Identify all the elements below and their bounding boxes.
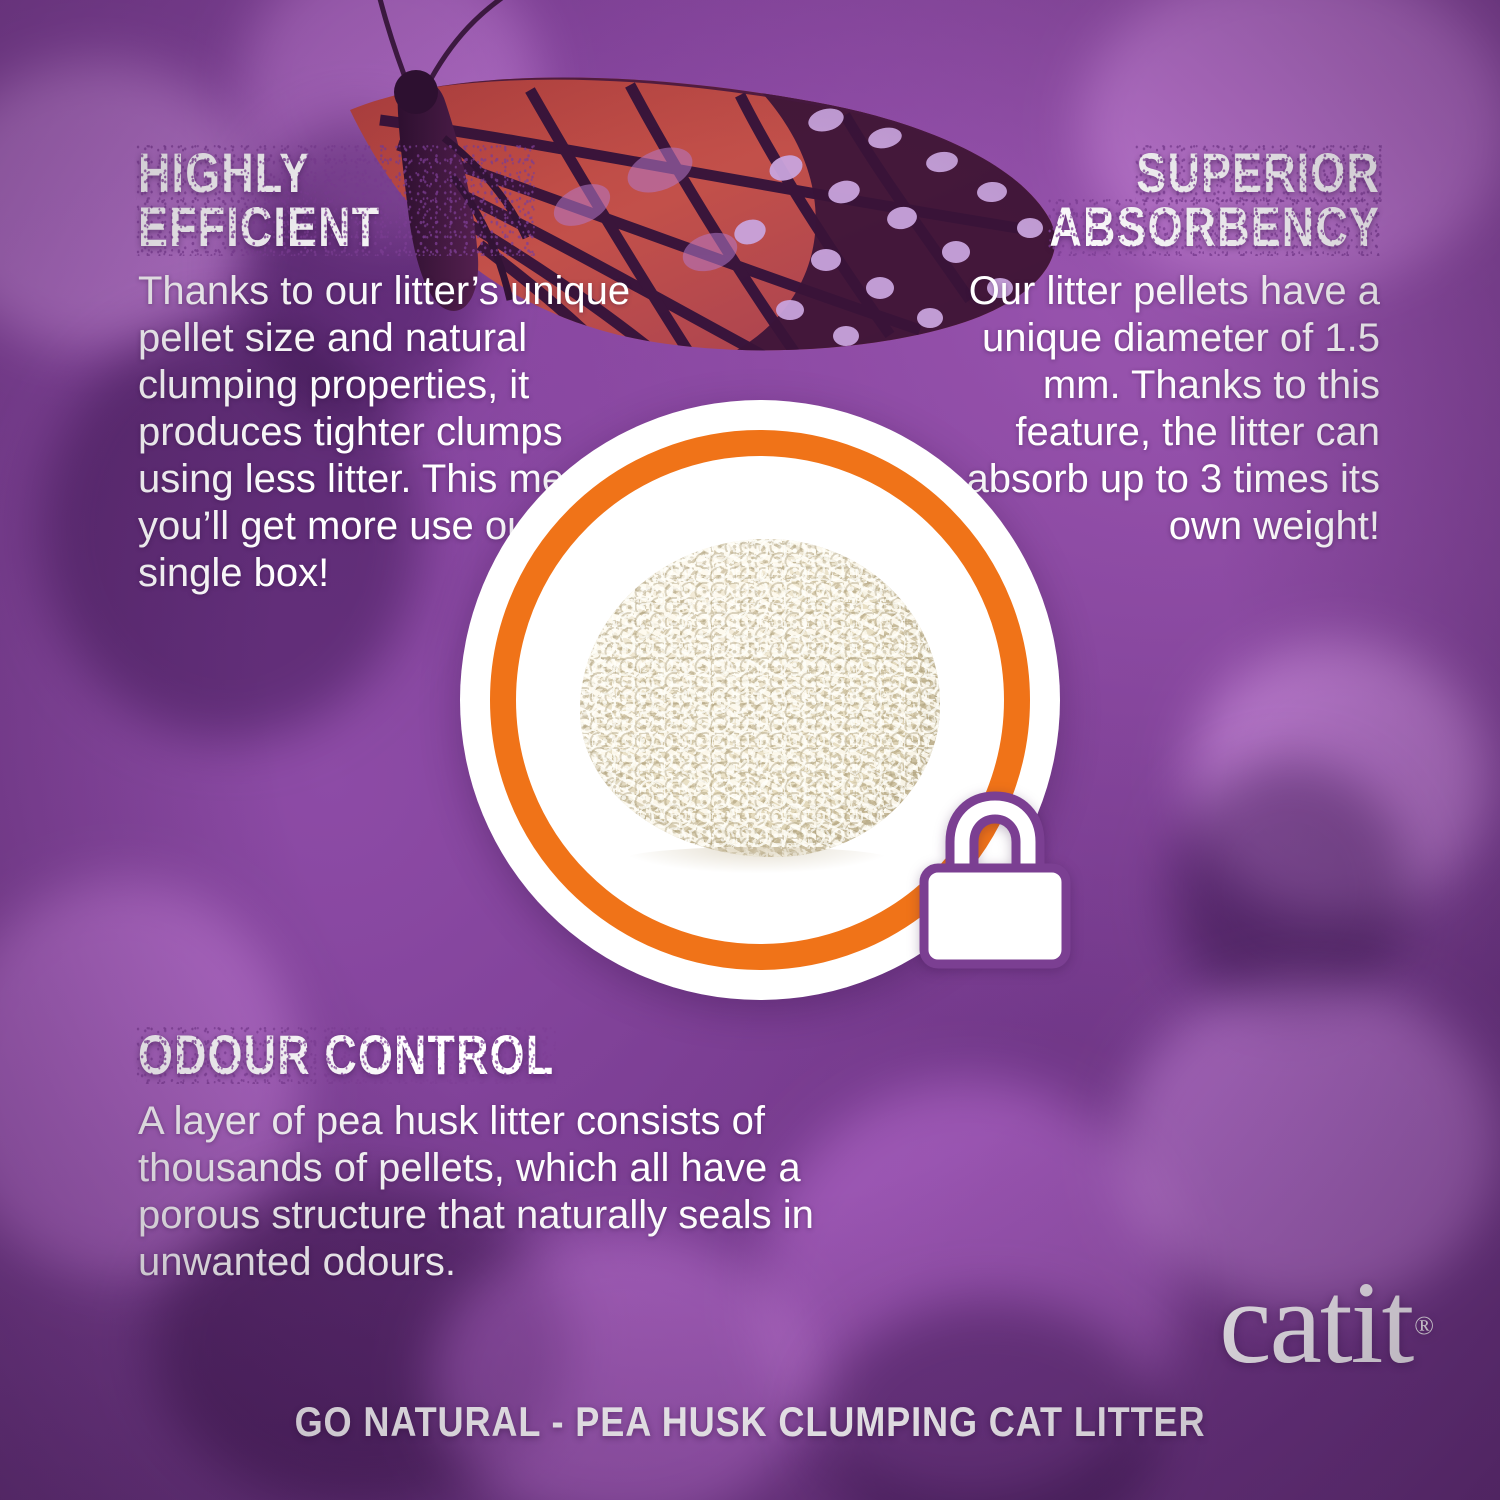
feature-heading-text: ODOUR CONTROL <box>138 1028 554 1082</box>
catit-logo-text: catit <box>1219 1257 1412 1388</box>
feature-heading-line2: ABSORBENCY <box>1049 200 1380 254</box>
feature-heading-line1: SUPERIOR <box>1136 146 1380 200</box>
pellet-pile-reflection <box>622 847 892 873</box>
feature-heading: HIGHLY EFFICIENT <box>138 146 538 254</box>
product-infographic: HIGHLY EFFICIENT Thanks to our litter’s … <box>0 0 1500 1500</box>
feature-body: A layer of pea husk litter consists of t… <box>138 1098 838 1286</box>
pellet-pile-shape <box>580 539 940 857</box>
feature-odour-control: ODOUR CONTROL A layer of pea husk litter… <box>138 1028 838 1286</box>
feature-superior-absorbency: SUPERIOR ABSORBENCY Our litter pellets h… <box>920 146 1380 550</box>
litter-pellets-image <box>572 525 948 875</box>
feature-heading-text: HIGHLY EFFICIENT <box>138 146 538 254</box>
feature-heading: ODOUR CONTROL <box>138 1028 698 1082</box>
catit-logo: catit® <box>1219 1264 1432 1382</box>
product-tagline: GO NATURAL - PEA HUSK CLUMPING CAT LITTE… <box>105 1398 1395 1446</box>
lock-icon <box>916 784 1074 970</box>
registered-trademark-symbol: ® <box>1414 1311 1434 1340</box>
feature-heading: SUPERIOR ABSORBENCY <box>1012 146 1380 254</box>
